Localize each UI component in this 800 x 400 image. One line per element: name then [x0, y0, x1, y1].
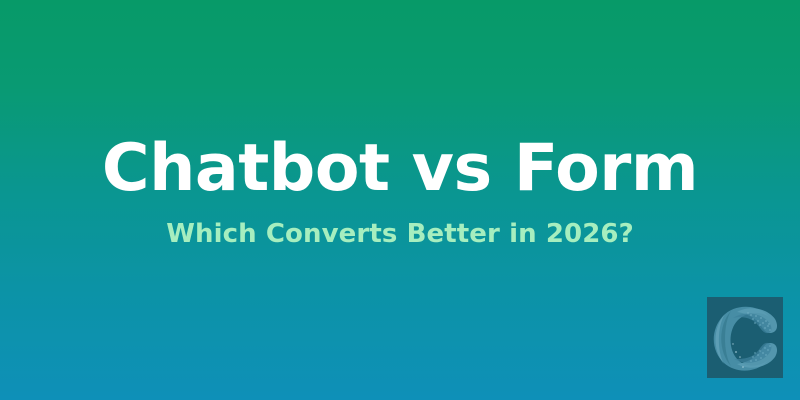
page-subtitle: Which Converts Better in 2026? — [166, 221, 634, 247]
banner-text-block: Chatbot vs Form Which Converts Better in… — [0, 0, 800, 400]
brand-logo — [707, 297, 783, 378]
wave-c-logo-icon — [707, 297, 783, 378]
banner-graphic: Chatbot vs Form Which Converts Better in… — [0, 0, 800, 400]
page-title: Chatbot vs Form — [102, 136, 698, 201]
